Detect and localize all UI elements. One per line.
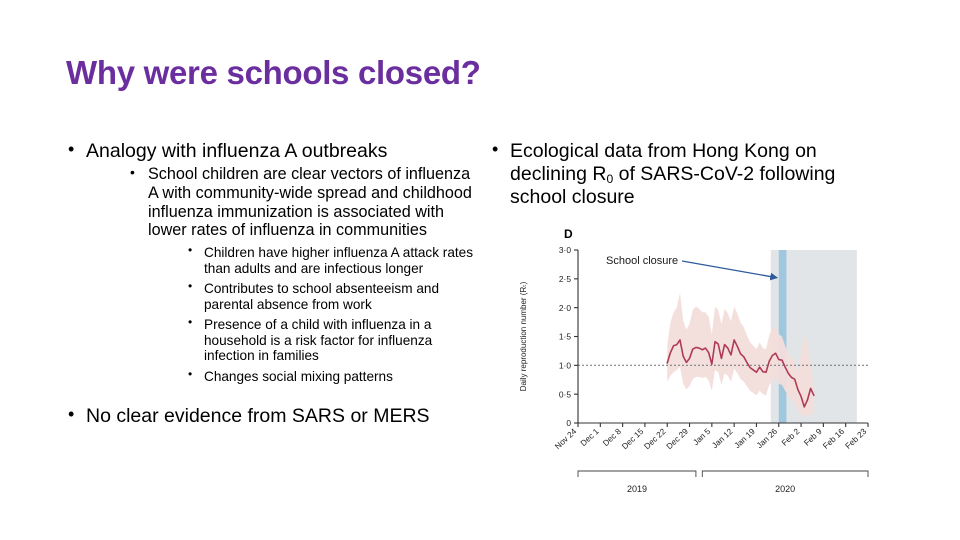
y-tick-label: 3·0 xyxy=(559,245,571,255)
x-tick-label: Feb 23 xyxy=(844,427,869,451)
bullet-list-right: Ecological data from Hong Kong on declin… xyxy=(486,140,886,209)
reproduction-number-figure: 00·51·01·52·02·53·0Daily reproduction nu… xyxy=(512,218,880,518)
bullet-text: Changes social mixing patterns xyxy=(204,369,393,384)
x-tick-label: Dec 1 xyxy=(579,427,601,448)
x-tick-label: Dec 29 xyxy=(665,427,690,452)
slide-canvas: Why were schools closed? Analogy with in… xyxy=(0,0,960,540)
r-zero-subscript: 0 xyxy=(606,172,613,186)
bullet-list-level3: Children have higher influenza A attack … xyxy=(182,245,482,384)
x-tick-label: Feb 2 xyxy=(780,427,802,448)
bullet-text: Ecological data from Hong Kong on declin… xyxy=(510,140,886,209)
x-tick-label: Nov 24 xyxy=(553,427,578,452)
left-content-column: Analogy with influenza A outbreaks Schoo… xyxy=(62,140,482,431)
annotation-school-closure-label: School closure xyxy=(606,255,678,267)
y-tick-label: 1·0 xyxy=(559,361,571,371)
y-axis-title: Daily reproduction number (Rₜ) xyxy=(519,281,528,391)
bullet-list-level1: Analogy with influenza A outbreaks Schoo… xyxy=(62,140,482,428)
y-tick-label: 1·5 xyxy=(559,332,571,342)
year-bracket-label: 2020 xyxy=(775,484,795,494)
panel-label: D xyxy=(564,227,573,241)
x-tick-label: Jan 12 xyxy=(710,427,734,451)
y-tick-label: 0 xyxy=(566,418,571,428)
y-tick-label: 2·5 xyxy=(559,274,571,284)
y-tick-label: 0·5 xyxy=(559,389,571,399)
annotation-arrow-icon xyxy=(682,261,777,278)
bullet-hong-kong-ecological-data: Ecological data from Hong Kong on declin… xyxy=(486,140,886,209)
bullet-text: Presence of a child with influenza in a … xyxy=(204,317,432,363)
bullet-social-mixing: Changes social mixing patterns xyxy=(182,369,482,384)
bullet-text: Analogy with influenza A outbreaks xyxy=(86,140,482,163)
x-tick-label: Jan 5 xyxy=(691,427,712,448)
y-tick-label: 2·0 xyxy=(559,303,571,313)
bullet-text: No clear evidence from SARS or MERS xyxy=(86,405,482,428)
x-tick-label: Feb 16 xyxy=(821,427,846,451)
x-tick-label: Dec 22 xyxy=(642,427,667,452)
bullet-household-risk: Presence of a child with influenza in a … xyxy=(182,317,482,363)
bullet-analogy-influenza: Analogy with influenza A outbreaks Schoo… xyxy=(62,140,482,384)
year-bracket-2019 xyxy=(578,471,696,477)
x-tick-label: Dec 15 xyxy=(620,427,645,452)
bullet-text: Contributes to school absenteeism and pa… xyxy=(204,281,439,311)
chart-svg: 00·51·01·52·02·53·0Daily reproduction nu… xyxy=(512,218,880,518)
bullet-text: School children are clear vectors of inf… xyxy=(148,165,472,239)
x-tick-label: Jan 26 xyxy=(755,427,779,451)
page-title: Why were schools closed? xyxy=(66,54,481,92)
bullet-absenteeism: Contributes to school absenteeism and pa… xyxy=(182,281,482,312)
bullet-no-clear-evidence: No clear evidence from SARS or MERS xyxy=(62,405,482,428)
year-bracket-2020 xyxy=(702,471,868,477)
x-tick-label: Jan 19 xyxy=(733,427,757,451)
year-bracket-label: 2019 xyxy=(627,484,647,494)
bullet-spacer xyxy=(62,387,482,405)
bullet-school-children-vectors: School children are clear vectors of inf… xyxy=(124,165,482,384)
bullet-attack-rates: Children have higher influenza A attack … xyxy=(182,245,482,276)
bullet-text: Children have higher influenza A attack … xyxy=(204,245,473,275)
right-content-column: Ecological data from Hong Kong on declin… xyxy=(486,140,886,212)
bullet-list-level2: School children are clear vectors of inf… xyxy=(124,165,482,384)
